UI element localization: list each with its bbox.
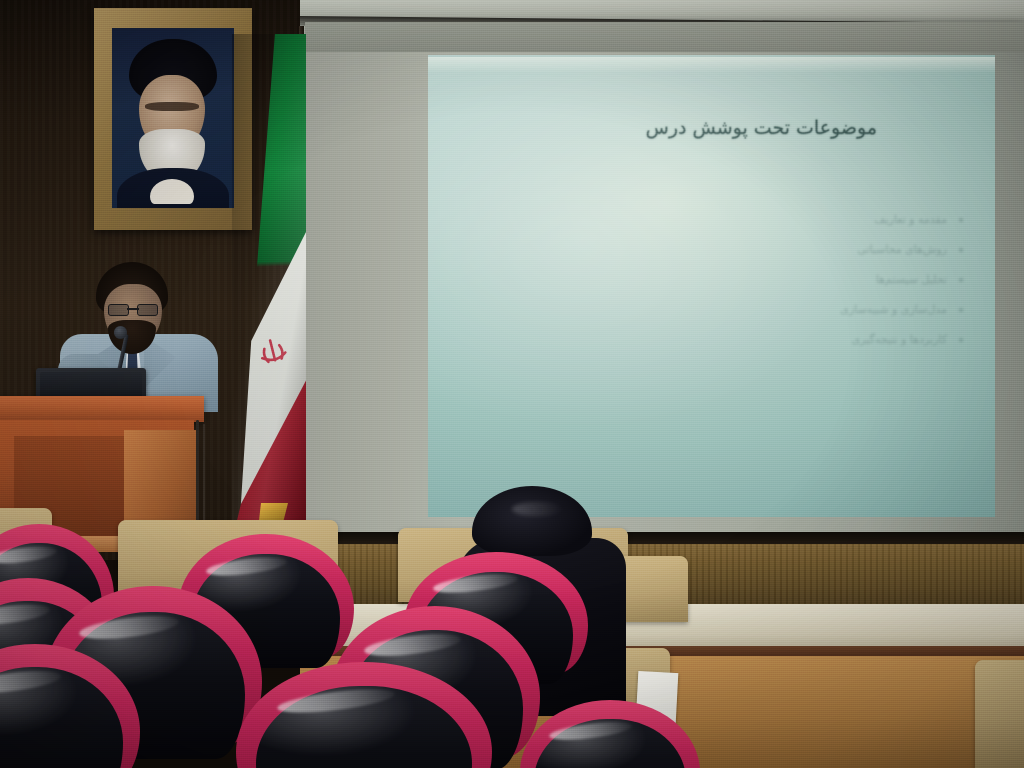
slide-bullet-item: مدل‌سازی و شبیه‌سازی: [635, 295, 965, 325]
attendee-head: [472, 486, 592, 556]
cable-secondary: [203, 424, 205, 534]
slide-bullet-list: مقدمه و تعاریف روش‌های محاسباتی تحلیل سی…: [635, 205, 965, 355]
iranian-flag: [232, 34, 306, 529]
slide-bullet-item: کاربردها و نتیجه‌گیری: [635, 325, 965, 355]
portrait-brow: [145, 102, 199, 111]
projected-slide: موضوعات تحت پوشش درس مقدمه و تعاریف روش‌…: [428, 55, 995, 517]
podium-top-ledge: [0, 396, 204, 422]
slide-bullet-item: روش‌های محاسباتی: [635, 235, 965, 265]
eyeglasses-icon: [108, 304, 158, 314]
portrait-canvas: [112, 28, 234, 208]
projector-hotspot-band: [428, 57, 995, 73]
chair-back: [975, 660, 1024, 768]
lecture-hall-photo: موضوعات تحت پوشش درس مقدمه و تعاریف روش‌…: [0, 0, 1024, 768]
portrait-collar: [150, 179, 194, 204]
attendee-highlight: [512, 502, 564, 516]
auditorium-seat: [520, 700, 700, 768]
slide-title: موضوعات تحت پوشش درس: [646, 117, 877, 139]
microphone-icon: [114, 326, 127, 339]
flag-shading: [232, 34, 306, 529]
slide-bullet-item: مقدمه و تعاریف: [635, 205, 965, 235]
projection-screen-top-bar: [305, 22, 1024, 52]
framed-portrait: [94, 8, 252, 230]
slide-bullet-item: تحلیل سیستم‌ها: [635, 265, 965, 295]
auditorium-seat: [236, 662, 492, 768]
auditorium-seat: [0, 644, 140, 768]
